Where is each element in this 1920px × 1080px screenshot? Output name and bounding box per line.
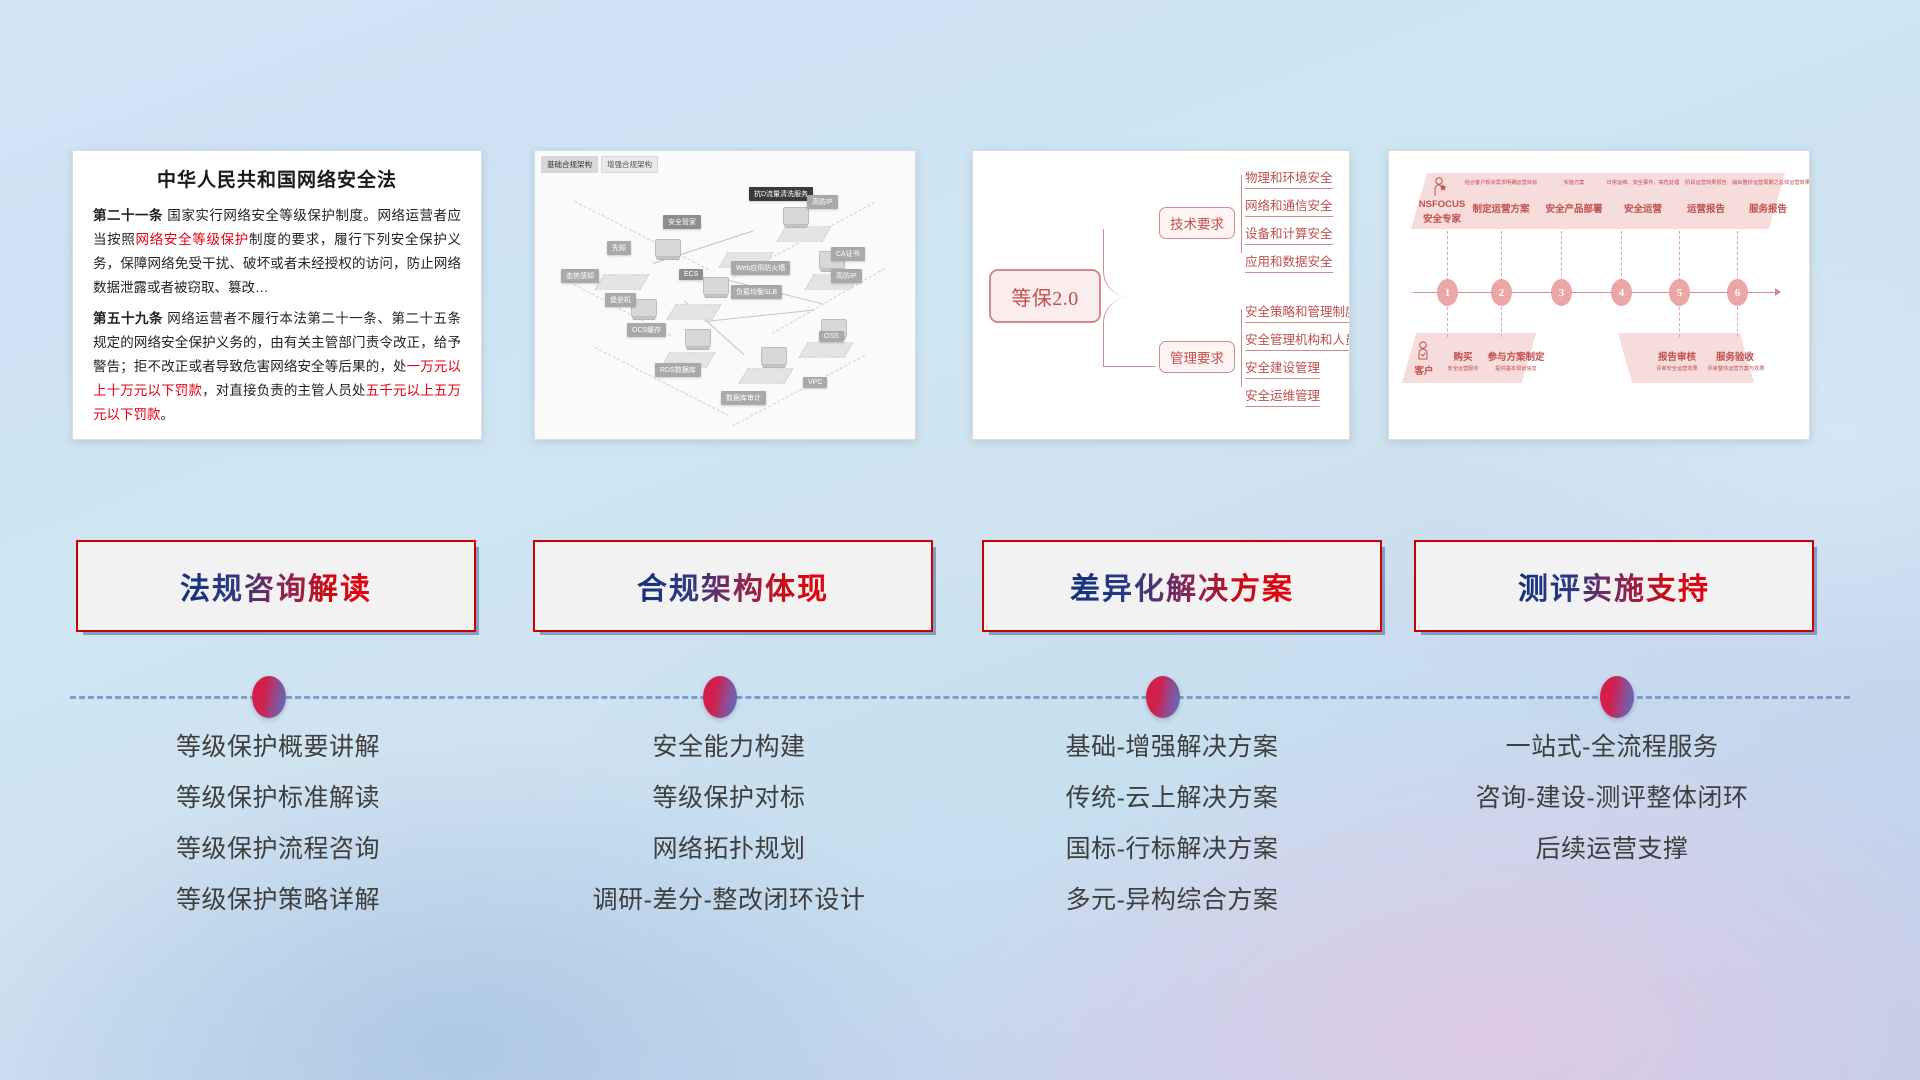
nsfocus-bottom-main: 服务验收 bbox=[1709, 349, 1761, 363]
nsfocus-top-sub: 输出整份运营周期之总体运营效果 bbox=[1731, 179, 1810, 186]
nsfocus-top-sub: 结合客户现状需求明确运营目标 bbox=[1463, 179, 1539, 186]
mindmap-leaf: 设备和计算安全 bbox=[1245, 223, 1333, 245]
detail-item: 一站式-全流程服务 bbox=[1402, 735, 1822, 760]
nsfocus-step-node: 3 bbox=[1551, 279, 1572, 306]
detail-item: 等级保护策略详解 bbox=[68, 888, 488, 913]
nsfocus-top-main: 制定运营方案 bbox=[1463, 201, 1539, 215]
customer-icon bbox=[1417, 341, 1431, 361]
nsfocus-dashed-connector bbox=[1501, 307, 1502, 337]
section-title-text: 法规咨询解读 bbox=[180, 564, 372, 608]
nsfocus-axis-arrow-icon bbox=[1775, 288, 1781, 296]
mindmap-branch-management: 管理要求 bbox=[1159, 341, 1235, 373]
nsfocus-dashed-connector bbox=[1737, 231, 1738, 281]
node-oss-top: 高防IP bbox=[807, 195, 838, 209]
nsfocus-top-main: 运营报告 bbox=[1675, 201, 1737, 215]
mindmap-leaf: 安全建设管理 bbox=[1245, 357, 1320, 379]
node-waf: Web应用防火墙 bbox=[731, 261, 790, 275]
nsfocus-customer-role: 客户 bbox=[1409, 363, 1439, 377]
node-asset-label: 抗D流量清洗服务 bbox=[749, 187, 813, 201]
mindmap-connector bbox=[1103, 297, 1155, 367]
node-bastion-host: 堡垒机 bbox=[605, 293, 636, 307]
mindmap-leaf: 应用和数据安全 bbox=[1245, 251, 1333, 273]
diagram-link bbox=[705, 310, 815, 322]
nsfocus-bottom-sub: 评审安全运营效果 bbox=[1645, 365, 1709, 372]
detail-item: 等级保护流程咨询 bbox=[68, 837, 488, 862]
section-details-3: 基础-增强解决方案 传统-云上解决方案 国标-行标解决方案 多元-异构综合方案 bbox=[962, 735, 1382, 939]
node-situational-awareness: 态势感知 bbox=[561, 269, 599, 283]
nsfocus-dashed-connector bbox=[1501, 231, 1502, 281]
nsfocus-top-sub: 实施方案 bbox=[1541, 179, 1607, 186]
timeline-dashed-line bbox=[70, 696, 1850, 699]
diagram-plate bbox=[594, 274, 649, 290]
node-db-audit: 数据库审计 bbox=[721, 391, 766, 405]
mindmap-connector bbox=[1241, 175, 1242, 253]
node-slb: 负载均衡SLB bbox=[731, 285, 782, 299]
timeline-track bbox=[0, 670, 1920, 730]
nsfocus-dashed-connector bbox=[1679, 307, 1680, 337]
mindmap-leaf: 物理和环境安全 bbox=[1245, 167, 1333, 189]
section-title-box-2[interactable]: 合规架构体现 bbox=[533, 540, 933, 632]
timeline-node-2[interactable] bbox=[703, 676, 737, 718]
nsfocus-timeline-axis bbox=[1413, 292, 1777, 293]
nsfocus-step-node: 6 bbox=[1727, 279, 1748, 306]
diagram-plate bbox=[798, 342, 853, 358]
law-article-59-text-c: 。 bbox=[161, 407, 175, 422]
detail-item: 后续运营支撑 bbox=[1402, 837, 1822, 862]
nsfocus-expert-role: 安全专家 bbox=[1415, 211, 1469, 225]
nsfocus-dashed-connector bbox=[1447, 231, 1448, 281]
diagram-plate bbox=[776, 226, 831, 242]
detail-item: 等级保护对标 bbox=[519, 786, 939, 811]
timeline-node-4[interactable] bbox=[1600, 676, 1634, 718]
node-vpc: VPC bbox=[803, 377, 827, 388]
nsfocus-bottom-sub: 提供基本现状信息 bbox=[1485, 365, 1547, 372]
nsfocus-bottom-sub: 评审整体运营方案与效果 bbox=[1703, 365, 1769, 372]
nsfocus-step-node: 4 bbox=[1611, 279, 1632, 306]
detail-item: 传统-云上解决方案 bbox=[962, 786, 1382, 811]
section-titles-row: 法规咨询解读 合规架构体现 差异化解决方案 测评实施支持 bbox=[0, 540, 1920, 640]
mindmap-leaf: 安全运维管理 bbox=[1245, 385, 1320, 407]
diagram-guide-line bbox=[575, 201, 709, 270]
mindmap-connector bbox=[1103, 229, 1155, 297]
mindmap-connector bbox=[1241, 309, 1242, 387]
mindmap-root-node: 等保2.0 bbox=[989, 269, 1101, 323]
node-security-butler: 安全管家 bbox=[663, 215, 701, 229]
section-title-text: 差异化解决方案 bbox=[1070, 564, 1294, 608]
nsfocus-dashed-connector bbox=[1621, 231, 1622, 281]
server-cube-icon bbox=[655, 239, 681, 257]
section-title-box-1[interactable]: 法规咨询解读 bbox=[76, 540, 476, 632]
nsfocus-step-node: 2 bbox=[1491, 279, 1512, 306]
nsfocus-top-main: 服务报告 bbox=[1737, 201, 1799, 215]
card-dengbao-mindmap[interactable]: 等保2.0 技术要求 物理和环境安全 网络和通信安全 设备和计算安全 应用和数据… bbox=[972, 150, 1350, 440]
nsfocus-dashed-connector bbox=[1679, 231, 1680, 281]
security-expert-icon bbox=[1433, 177, 1447, 197]
detail-item: 等级保护标准解读 bbox=[68, 786, 488, 811]
nsfocus-step-node: 5 bbox=[1669, 279, 1690, 306]
nsfocus-bottom-main: 购买 bbox=[1441, 349, 1485, 363]
section-title-box-4[interactable]: 测评实施支持 bbox=[1414, 540, 1814, 632]
mindmap-leaf: 安全策略和管理制度 bbox=[1245, 301, 1350, 323]
architecture-tabs[interactable]: 基础合规架构 增强合规架构 bbox=[541, 156, 658, 173]
nsfocus-top-sub: 日常运维、安全事件、高危处理 bbox=[1605, 179, 1681, 186]
nsfocus-dashed-connector bbox=[1447, 307, 1448, 337]
mindmap-leaf: 安全管理机构和人员 bbox=[1245, 329, 1350, 351]
nsfocus-top-sub: 阶段运营效果报告 bbox=[1675, 179, 1737, 186]
node-ca-cert: CA证书 bbox=[831, 247, 865, 261]
section-details-1: 等级保护概要讲解 等级保护标准解读 等级保护流程咨询 等级保护策略详解 bbox=[68, 735, 488, 939]
detail-item: 调研-差分-整改闭环设计 bbox=[519, 888, 939, 913]
section-details-row: 等级保护概要讲解 等级保护标准解读 等级保护流程咨询 等级保护策略详解 安全能力… bbox=[0, 735, 1920, 965]
architecture-diagram: 基础合规架构 增强合规架构 bbox=[535, 151, 915, 439]
detail-item: 国标-行标解决方案 bbox=[962, 837, 1382, 862]
detail-item: 基础-增强解决方案 bbox=[962, 735, 1382, 760]
node-ecs: ECS bbox=[679, 269, 703, 280]
section-title-text: 合规架构体现 bbox=[637, 564, 829, 608]
section-details-2: 安全能力构建 等级保护对标 网络拓扑规划 调研-差分-整改闭环设计 bbox=[519, 735, 939, 939]
detail-item: 等级保护概要讲解 bbox=[68, 735, 488, 760]
tab-enhanced-architecture[interactable]: 增强合规架构 bbox=[601, 156, 658, 173]
server-cube-icon bbox=[783, 207, 809, 225]
nsfocus-bottom-main: 报告审核 bbox=[1651, 349, 1703, 363]
node-oss: OSS bbox=[819, 331, 844, 342]
server-cube-icon bbox=[761, 347, 787, 365]
mindmap-diagram: 等保2.0 技术要求 物理和环境安全 网络和通信安全 设备和计算安全 应用和数据… bbox=[973, 151, 1349, 439]
law-article-21-label: 第二十一条 bbox=[93, 208, 163, 223]
nsfocus-top-main: 安全产品部署 bbox=[1539, 201, 1609, 215]
node-ocs-cache: OCS缓存 bbox=[627, 323, 666, 337]
nsfocus-dashed-connector bbox=[1737, 307, 1738, 337]
law-paragraph-59: 第五十九条 网络运营者不履行本法第二十一条、第二十五条规定的网络安全保护义务的，… bbox=[93, 307, 461, 427]
node-highdefense-ip: 高防IP bbox=[831, 269, 862, 283]
server-cube-icon bbox=[685, 329, 711, 347]
section-details-4: 一站式-全流程服务 咨询-建设-测评整体闭环 后续运营支撑 bbox=[1402, 735, 1822, 888]
nsfocus-diagram: NSFOCUS 安全专家 结合客户现状需求明确运营目标 制定运营方案 实施方案 … bbox=[1389, 151, 1809, 439]
preview-cards-row: 中华人民共和国网络安全法 第二十一条 国家实行网络安全等级保护制度。网络运营者应… bbox=[0, 0, 1920, 450]
nsfocus-step-node: 1 bbox=[1437, 279, 1458, 306]
diagram-plate bbox=[738, 368, 793, 384]
nsfocus-dashed-connector bbox=[1561, 231, 1562, 281]
server-cube-icon bbox=[703, 277, 729, 295]
node-rds: RDS数据库 bbox=[655, 363, 701, 377]
tab-basic-architecture[interactable]: 基础合规架构 bbox=[541, 156, 598, 173]
law-article-59-text-b: ，对直接负责的主管人员处 bbox=[202, 383, 366, 398]
mindmap-leaf: 网络和通信安全 bbox=[1245, 195, 1333, 217]
detail-item: 咨询-建设-测评整体闭环 bbox=[1402, 786, 1822, 811]
law-article-21-highlight: 网络安全等级保护 bbox=[136, 232, 249, 247]
law-title: 中华人民共和国网络安全法 bbox=[93, 165, 461, 192]
nsfocus-bottom-sub: 安全运营服务 bbox=[1437, 365, 1489, 372]
mindmap-branch-technical: 技术要求 bbox=[1159, 207, 1235, 239]
diagram-plate bbox=[666, 304, 721, 320]
law-paragraph-21: 第二十一条 国家实行网络安全等级保护制度。网络运营者应当按照网络安全等级保护制度… bbox=[93, 204, 461, 300]
nsfocus-expert-brand: NSFOCUS bbox=[1415, 199, 1469, 210]
nsfocus-bottom-main: 参与方案制定 bbox=[1485, 349, 1547, 363]
section-title-box-3[interactable]: 差异化解决方案 bbox=[982, 540, 1382, 632]
card-cybersecurity-law[interactable]: 中华人民共和国网络安全法 第二十一条 国家实行网络安全等级保护制度。网络运营者应… bbox=[72, 150, 482, 440]
timeline-node-3[interactable] bbox=[1146, 676, 1180, 718]
timeline-node-1[interactable] bbox=[252, 676, 286, 718]
law-text-block: 中华人民共和国网络安全法 第二十一条 国家实行网络安全等级保护制度。网络运营者应… bbox=[73, 151, 481, 440]
detail-item: 多元-异构综合方案 bbox=[962, 888, 1382, 913]
node-xianzhi: 先知 bbox=[607, 241, 631, 255]
card-cloud-architecture[interactable]: 基础合规架构 增强合规架构 bbox=[534, 150, 916, 440]
nsfocus-top-main: 安全运营 bbox=[1611, 201, 1675, 215]
detail-item: 安全能力构建 bbox=[519, 735, 939, 760]
detail-item: 网络拓扑规划 bbox=[519, 837, 939, 862]
section-title-text: 测评实施支持 bbox=[1518, 564, 1710, 608]
card-nsfocus-timeline[interactable]: NSFOCUS 安全专家 结合客户现状需求明确运营目标 制定运营方案 实施方案 … bbox=[1388, 150, 1810, 440]
law-article-59-label: 第五十九条 bbox=[93, 311, 163, 326]
